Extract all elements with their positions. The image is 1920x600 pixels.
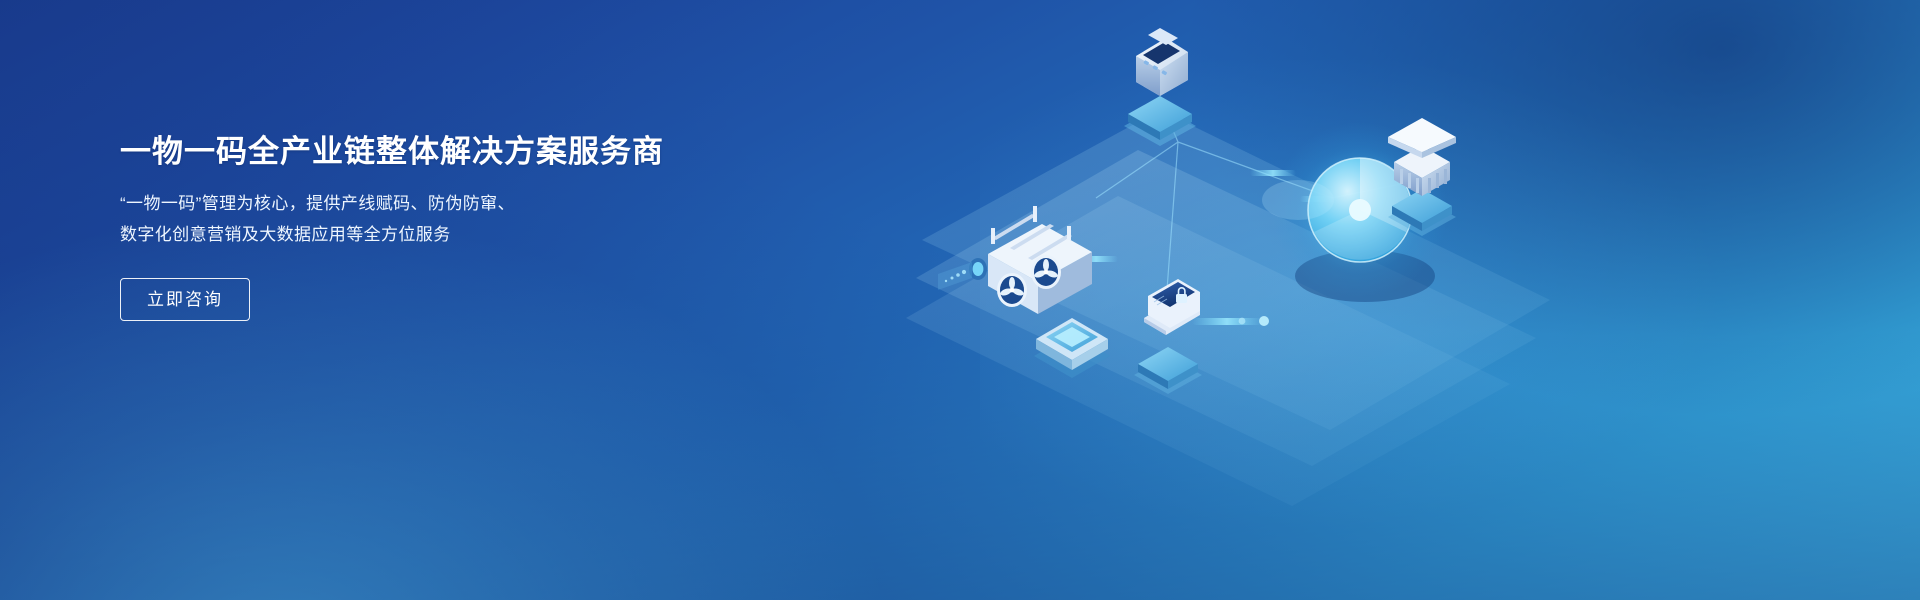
consult-now-button[interactable]: 立即咨询 bbox=[120, 278, 250, 321]
platform-layer bbox=[906, 110, 1550, 506]
hero-banner: 一物一码全产业链整体解决方案服务商 “一物一码”管理为核心，提供产线赋码、防伪防… bbox=[0, 0, 1920, 600]
pos-terminal-node bbox=[1124, 28, 1196, 146]
hero-headline: 一物一码全产业链整体解决方案服务商 bbox=[120, 132, 840, 172]
hero-subtitle-line-2: 数字化创意营销及大数据应用等全方位服务 bbox=[120, 219, 840, 250]
isometric-illustration bbox=[860, 0, 1560, 600]
hero-copy-block: 一物一码全产业链整体解决方案服务商 “一物一码”管理为核心，提供产线赋码、防伪防… bbox=[120, 132, 840, 321]
bank-building-node bbox=[1388, 118, 1456, 236]
card-terminal-icon bbox=[1136, 28, 1188, 96]
hero-subtitle-line-1: “一物一码”管理为核心，提供产线赋码、防伪防窜、 bbox=[120, 188, 840, 219]
